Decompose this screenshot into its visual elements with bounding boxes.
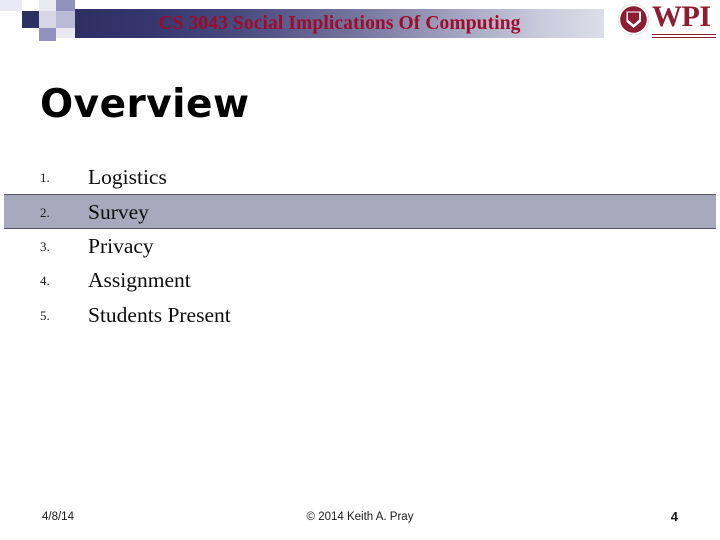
outline-item-number: 5.	[40, 308, 74, 324]
outline-item-students-present[interactable]: 5.Students Present	[0, 298, 720, 332]
footer-page-number: 4	[671, 509, 678, 524]
wpi-seal-icon	[618, 4, 649, 35]
outline-item-survey[interactable]: 2.Survey	[4, 194, 716, 228]
outline-item-label: Privacy	[88, 231, 154, 261]
mosaic-square-6	[56, 11, 75, 28]
mosaic-square-4	[39, 28, 56, 41]
mosaic-square-8	[0, 0, 22, 11]
wpi-rule-top	[652, 34, 716, 35]
outline-item-assignment[interactable]: 4.Assignment	[0, 263, 720, 297]
outline-list: 1.Logistics2.Survey3.Privacy4.Assignment…	[0, 160, 720, 332]
mosaic-square-7	[56, 28, 75, 38]
mosaic-square-3	[39, 11, 56, 28]
outline-item-label: Students Present	[88, 300, 231, 330]
mosaic-square-2	[39, 0, 56, 11]
outline-item-privacy[interactable]: 3.Privacy	[0, 229, 720, 263]
slide-header: CS 3043 Social Implications Of Computing…	[0, 0, 720, 46]
outline-item-number: 1.	[40, 170, 74, 186]
wpi-rule-bottom	[652, 37, 716, 38]
outline-item-label: Survey	[88, 197, 149, 227]
outline-item-label: Logistics	[88, 162, 167, 192]
outline-item-label: Assignment	[88, 265, 191, 295]
slide-footer: 4/8/14 © 2014 Keith A. Pray 4	[0, 505, 720, 529]
footer-copyright: © 2014 Keith A. Pray	[0, 511, 720, 523]
outline-item-number: 3.	[40, 239, 74, 255]
outline-item-number: 4.	[40, 273, 74, 289]
outline-item-number: 2.	[40, 205, 74, 221]
slide: CS 3043 Social Implications Of Computing…	[0, 0, 720, 540]
course-title: CS 3043 Social Implications Of Computing	[75, 9, 604, 38]
wpi-shield-icon	[626, 11, 641, 28]
mosaic-square-5	[56, 0, 75, 11]
wpi-logo[interactable]: WPI	[614, 1, 718, 41]
mosaic-square-1	[22, 11, 39, 28]
wpi-wordmark: WPI	[652, 1, 711, 33]
page-title: Overview	[40, 82, 250, 128]
outline-item-logistics[interactable]: 1.Logistics	[0, 160, 720, 194]
